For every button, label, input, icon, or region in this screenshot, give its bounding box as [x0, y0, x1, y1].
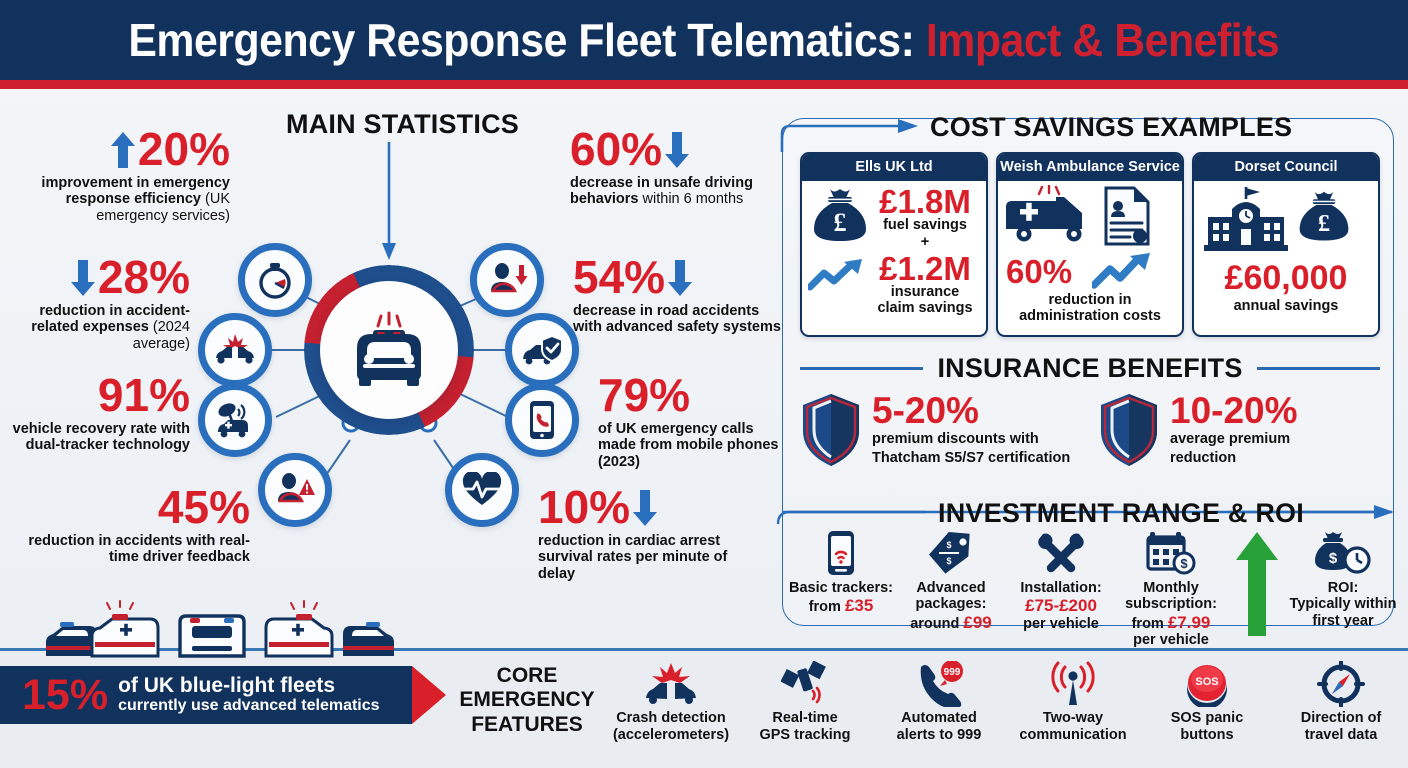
insurance-item-average-reduction-value: 10-20% [1170, 392, 1298, 429]
stat-91-value: 91% [98, 373, 190, 418]
stat-20-value: 20% [138, 127, 230, 172]
tracker-phone-icon [826, 530, 856, 576]
feature-gps-tracking[interactable]: Real-time GPS tracking [738, 660, 872, 743]
stat-54-value-row: 54% [573, 255, 783, 300]
central-hub [304, 265, 474, 435]
price-tag-icon: $$ [927, 530, 975, 576]
stat-45: 45% reduction in accidents with real-tim… [10, 485, 250, 566]
shield-icon [1098, 392, 1160, 468]
stat-node-driver-alert[interactable] [258, 453, 332, 527]
stat-28-caption: reduction in accident-related expenses (… [0, 303, 190, 352]
cost-card-weish-caption-line1: reduction in [998, 293, 1182, 309]
heart-pulse-icon [461, 472, 503, 508]
stat-28: 28% reduction in accident-related expens… [0, 255, 190, 352]
investment-item-advanced-packages: $$ Advanced packages: around £99 [896, 528, 1006, 649]
investment-item-installation-price: £75-£200 [1020, 596, 1101, 615]
investment-item-basic-trackers-line2-pre: from [809, 599, 845, 615]
cost-card-dorset-header: Dorset Council [1194, 154, 1378, 181]
stat-10-value: 10% [538, 485, 630, 530]
stat-45-caption: reduction in accidents with real-time dr… [10, 533, 250, 565]
page-header: Emergency Response Fleet Telematics: Imp… [0, 0, 1408, 80]
feature-gps-tracking-line2: GPS tracking [759, 727, 850, 744]
investment-item-monthly-subscription-line3: per vehicle [1116, 632, 1226, 648]
cost-card-weish-header: Weish Ambulance Service [998, 154, 1182, 181]
down-arrow-icon [667, 258, 693, 298]
down-arrow-icon [70, 258, 96, 298]
feature-crash-detection[interactable]: Crash detection (accelerometers) [604, 660, 738, 743]
feature-gps-tracking-caption: Real-time GPS tracking [759, 710, 850, 743]
feature-direction-of-travel[interactable]: Direction of travel data [1274, 660, 1408, 743]
infographic-page: Emergency Response Fleet Telematics: Imp… [0, 0, 1408, 768]
growth-arrow-icon [1092, 251, 1154, 289]
stopwatch-icon [255, 260, 295, 300]
up-arrow-icon [110, 130, 136, 170]
svg-text:$: $ [946, 540, 951, 550]
investment-item-monthly-subscription-line1: Monthly subscription: [1116, 580, 1226, 613]
emergency-fleet-icon [40, 600, 400, 660]
investment-item-advanced-packages-price: £99 [963, 613, 991, 632]
investment-item-roi: $ ROI: Typically within first year [1288, 528, 1398, 649]
investment-item-monthly-subscription: $ Monthly subscription: from £7.99 per v… [1116, 528, 1226, 649]
stat-60-value: 60% [570, 127, 662, 172]
cost-card-dorset-caption: annual savings [1194, 299, 1378, 315]
investment-item-roi-caption: ROI: Typically within first year [1290, 580, 1397, 629]
calendar-dollar-icon: $ [1146, 530, 1196, 576]
investment-item-installation-caption: Installation: £75-£200 per vehicle [1020, 580, 1101, 632]
cost-savings-arrow [770, 108, 945, 153]
telematics-adoption-text: of UK blue-light fleets currently use ad… [118, 675, 379, 715]
cost-card-dorset-value: £60,000 [1194, 261, 1378, 295]
investment-item-advanced-packages-line3-pre: around [910, 616, 963, 632]
feature-automated-alerts-line1: Automated [897, 710, 982, 727]
cost-card-ells[interactable]: Ells UK Ltd £ £1.8M fuel savings + [800, 152, 988, 337]
header-rule [0, 80, 1408, 89]
telematics-adoption-banner: 15% of UK blue-light fleets currently us… [0, 666, 412, 724]
feature-two-way-communication-caption: Two-way communication [1019, 710, 1126, 743]
stat-node-mobile-phone[interactable] [505, 383, 579, 457]
stat-node-driver-down[interactable] [470, 243, 544, 317]
investment-items: Basic trackers: from £35 $$ Advanced pac… [786, 528, 1398, 649]
feature-direction-of-travel-caption: Direction of travel data [1301, 710, 1382, 743]
feature-sos-button-line1: SOS panic [1171, 710, 1244, 727]
down-arrow-icon [664, 130, 690, 170]
cost-card-ells-caption2-line2: claim savings [872, 301, 978, 317]
stat-45-value-row: 45% [10, 485, 250, 530]
feature-crash-detection-line1: Crash detection [613, 710, 729, 727]
stat-91-caption: vehicle recovery rate with dual-tracker … [0, 421, 190, 453]
stat-20: 20% improvement in emergency response ef… [10, 127, 230, 224]
growth-arrow-icon [808, 257, 866, 291]
stat-node-car-crash[interactable] [198, 313, 272, 387]
svg-text:$: $ [1329, 550, 1338, 567]
feature-gps-tracking-line1: Real-time [759, 710, 850, 727]
cost-savings-title: COST SAVINGS EXAMPLES [930, 112, 1292, 143]
stat-20-value-row: 20% [10, 127, 230, 172]
stat-91-value-row: 91% [0, 373, 190, 418]
down-arrow-icon [632, 488, 658, 528]
investment-item-roi-line1: ROI: [1290, 580, 1397, 596]
cost-card-weish-value: 60% [1006, 255, 1072, 288]
investment-item-roi-line3: first year [1290, 613, 1397, 629]
investment-item-monthly-subscription-price: £7.99 [1168, 613, 1211, 632]
svg-text:$: $ [946, 556, 951, 566]
svg-text:$: $ [1180, 556, 1188, 571]
stat-60-caption: decrease in unsafe driving behaviors wit… [570, 175, 770, 207]
money-bag-pound-icon: £ [808, 185, 872, 249]
insurance-item-premium-discounts: 5-20% premium discounts with Thatcham S5… [800, 392, 1082, 468]
stat-60-value-row: 60% [570, 127, 770, 172]
insurance-item-premium-discounts-caption-line1: premium discounts with [872, 431, 1070, 448]
stat-28-value-row: 28% [0, 255, 190, 300]
council-building-icon [1202, 185, 1290, 255]
insurance-items: 5-20% premium discounts with Thatcham S5… [800, 392, 1380, 468]
page-title: Emergency Response Fleet Telematics: Imp… [129, 13, 1280, 67]
cost-card-ells-value1: £1.8M [872, 185, 978, 218]
driver-alert-icon [274, 471, 316, 509]
core-features-label-line3: FEATURES [452, 713, 602, 737]
page-title-accent: Impact & Benefits [926, 14, 1279, 66]
cost-card-weish-caption-line2: administration costs [998, 309, 1182, 325]
crash-detection-icon [644, 662, 698, 706]
feature-crash-detection-line2: (accelerometers) [613, 727, 729, 744]
car-crash-icon [214, 332, 256, 368]
investment-item-basic-trackers-price: £35 [845, 596, 873, 615]
investment-title: INVESTMENT RANGE & ROI [938, 498, 1304, 529]
stat-79-value-row: 79% [598, 373, 788, 418]
cost-card-ells-caption1: fuel savings [872, 218, 978, 234]
telematics-adoption-line1: of UK blue-light fleets [118, 675, 379, 697]
investment-item-basic-trackers: Basic trackers: from £35 [786, 528, 896, 649]
stat-45-value: 45% [158, 485, 250, 530]
stat-91: 91% vehicle recovery rate with dual-trac… [0, 373, 190, 454]
cost-card-ells-caption2-line1: insurance [872, 285, 978, 301]
satellite-gps-icon [781, 661, 829, 707]
cost-card-ells-value2: £1.2M [872, 252, 978, 285]
stat-node-car-shield[interactable] [505, 313, 579, 387]
feature-crash-detection-caption: Crash detection (accelerometers) [613, 710, 729, 743]
tools-icon [1037, 530, 1085, 576]
investment-item-installation-line1: Installation: [1020, 580, 1101, 596]
money-bag-clock-icon: $ [1315, 530, 1371, 576]
cost-savings-cards: Ells UK Ltd £ £1.8M fuel savings + [800, 152, 1380, 337]
stat-10: 10% reduction in cardiac arrest survival… [538, 485, 748, 582]
banner-arrow-icon [412, 666, 446, 724]
investment-item-basic-trackers-line1: Basic trackers: [789, 580, 893, 596]
cost-card-ells-body: £ £1.8M fuel savings + £1.2M insurance c… [802, 181, 986, 335]
feature-automated-alerts-line2: alerts to 999 [897, 727, 982, 744]
feature-sos-button-caption: SOS panic buttons [1171, 710, 1244, 743]
insurance-item-premium-discounts-text: 5-20% premium discounts with Thatcham S5… [872, 392, 1070, 466]
insurance-item-premium-discounts-caption-line2: Thatcham S5/S7 certification [872, 450, 1070, 467]
satellite-ambulance-icon [214, 401, 256, 439]
stat-node-satellite-ambulance[interactable] [198, 383, 272, 457]
cost-card-dorset[interactable]: Dorset Council [1192, 152, 1380, 337]
svg-text:999: 999 [944, 667, 961, 678]
stat-10-value-row: 10% [538, 485, 748, 530]
hub-inner [320, 281, 458, 419]
cost-card-weish-body: 60% reduction in administration costs [998, 181, 1182, 335]
phone-999-icon: 999 [913, 661, 965, 707]
stat-79-value: 79% [598, 373, 690, 418]
insurance-item-average-reduction-caption-line2: reduction [1170, 450, 1298, 467]
driver-down-icon [486, 261, 528, 299]
insurance-title: INSURANCE BENEFITS [937, 353, 1242, 384]
stat-79-caption: of UK emergency calls made from mobile p… [598, 421, 788, 470]
insurance-rule-right [1257, 367, 1380, 369]
svg-text:SOS: SOS [1195, 676, 1218, 688]
stat-node-stopwatch[interactable] [238, 243, 312, 317]
stat-node-heart-pulse[interactable] [445, 453, 519, 527]
core-features-row: Crash detection (accelerometers) [604, 660, 1408, 743]
investment-item-advanced-packages-caption: Advanced packages: around £99 [910, 580, 992, 632]
insurance-item-average-reduction-caption-line1: average premium [1170, 431, 1298, 448]
core-features-label: CORE EMERGENCY FEATURES [452, 664, 602, 737]
telematics-adoption-line2: currently use advanced telematics [118, 697, 379, 715]
svg-text:£: £ [834, 208, 847, 237]
cost-card-weish[interactable]: Weish Ambulance Service [996, 152, 1184, 337]
insurance-item-average-reduction-text: 10-20% average premium reduction [1170, 392, 1298, 466]
stat-10-caption: reduction in cardiac arrest survival rat… [538, 533, 748, 582]
shield-icon [800, 392, 862, 468]
feature-direction-of-travel-line1: Direction of [1301, 710, 1382, 727]
telematics-adoption-percent: 15% [22, 674, 108, 717]
investment-item-green-arrow [1226, 528, 1288, 649]
stat-79: 79% of UK emergency calls made from mobi… [598, 373, 788, 470]
cost-card-ells-header: Ells UK Ltd [802, 154, 986, 181]
stat-54: 54% decrease in road accidents with adva… [573, 255, 783, 336]
green-up-arrow-icon [1234, 530, 1280, 638]
feature-sos-button-line2: buttons [1171, 727, 1244, 744]
feature-two-way-communication-line1: Two-way [1019, 710, 1126, 727]
stat-60-caption-thin: within 6 months [643, 191, 744, 207]
svg-text:£: £ [1318, 210, 1330, 237]
investment-item-advanced-packages-line1: Advanced [910, 580, 992, 596]
investment-item-monthly-subscription-caption: Monthly subscription: from £7.99 per veh… [1116, 580, 1226, 649]
investment-item-installation: Installation: £75-£200 per vehicle [1006, 528, 1116, 649]
stat-60: 60% decrease in unsafe driving behaviors… [570, 127, 770, 208]
mobile-phone-call-icon [527, 400, 557, 440]
feature-two-way-communication[interactable]: Two-way communication [1006, 660, 1140, 743]
investment-item-basic-trackers-caption: Basic trackers: from £35 [789, 580, 893, 616]
feature-sos-button[interactable]: SOS SOS panic buttons [1140, 660, 1274, 743]
feature-automated-alerts[interactable]: 999 Automated alerts to 999 [872, 660, 1006, 743]
investment-item-roi-line2: Typically within [1290, 596, 1397, 612]
insurance-item-premium-discounts-value: 5-20% [872, 392, 1070, 429]
stat-54-caption: decrease in road accidents with advanced… [573, 303, 783, 335]
feature-direction-of-travel-line2: travel data [1301, 727, 1382, 744]
core-features-label-line2: EMERGENCY [452, 688, 602, 712]
main-statistics-section: MAIN STATISTICS [0, 95, 780, 615]
insurance-rule-left [800, 367, 923, 369]
sos-button-icon: SOS [1183, 661, 1231, 707]
investment-item-monthly-subscription-line2-pre: from [1132, 616, 1168, 632]
stat-54-value: 54% [573, 255, 665, 300]
investment-item-installation-line3: per vehicle [1020, 616, 1101, 632]
feature-two-way-communication-line2: communication [1019, 727, 1126, 744]
antenna-signal-icon [1047, 661, 1099, 707]
feature-automated-alerts-caption: Automated alerts to 999 [897, 710, 982, 743]
ambulance-icon [1002, 185, 1100, 247]
stat-20-caption: improvement in emergency response effici… [10, 175, 230, 224]
investment-item-advanced-packages-line2: packages: [910, 596, 992, 612]
compass-icon [1317, 661, 1365, 707]
car-shield-icon [521, 332, 563, 368]
money-bag-pound-icon: £ [1294, 187, 1354, 249]
page-title-main: Emergency Response Fleet Telematics: [129, 14, 915, 66]
ambulance-front-icon [341, 308, 437, 392]
cost-card-ells-plus: + [872, 235, 978, 251]
stat-20-caption-bold: improvement in emergency response effici… [41, 175, 230, 207]
insurance-title-row: INSURANCE BENEFITS [800, 353, 1380, 384]
insurance-item-average-reduction: 10-20% average premium reduction [1098, 392, 1380, 468]
core-features-label-line1: CORE [452, 664, 602, 688]
cost-card-dorset-body: £ £60,000 annual savings [1194, 181, 1378, 335]
stat-28-value: 28% [98, 255, 190, 300]
document-icon [1104, 186, 1150, 246]
